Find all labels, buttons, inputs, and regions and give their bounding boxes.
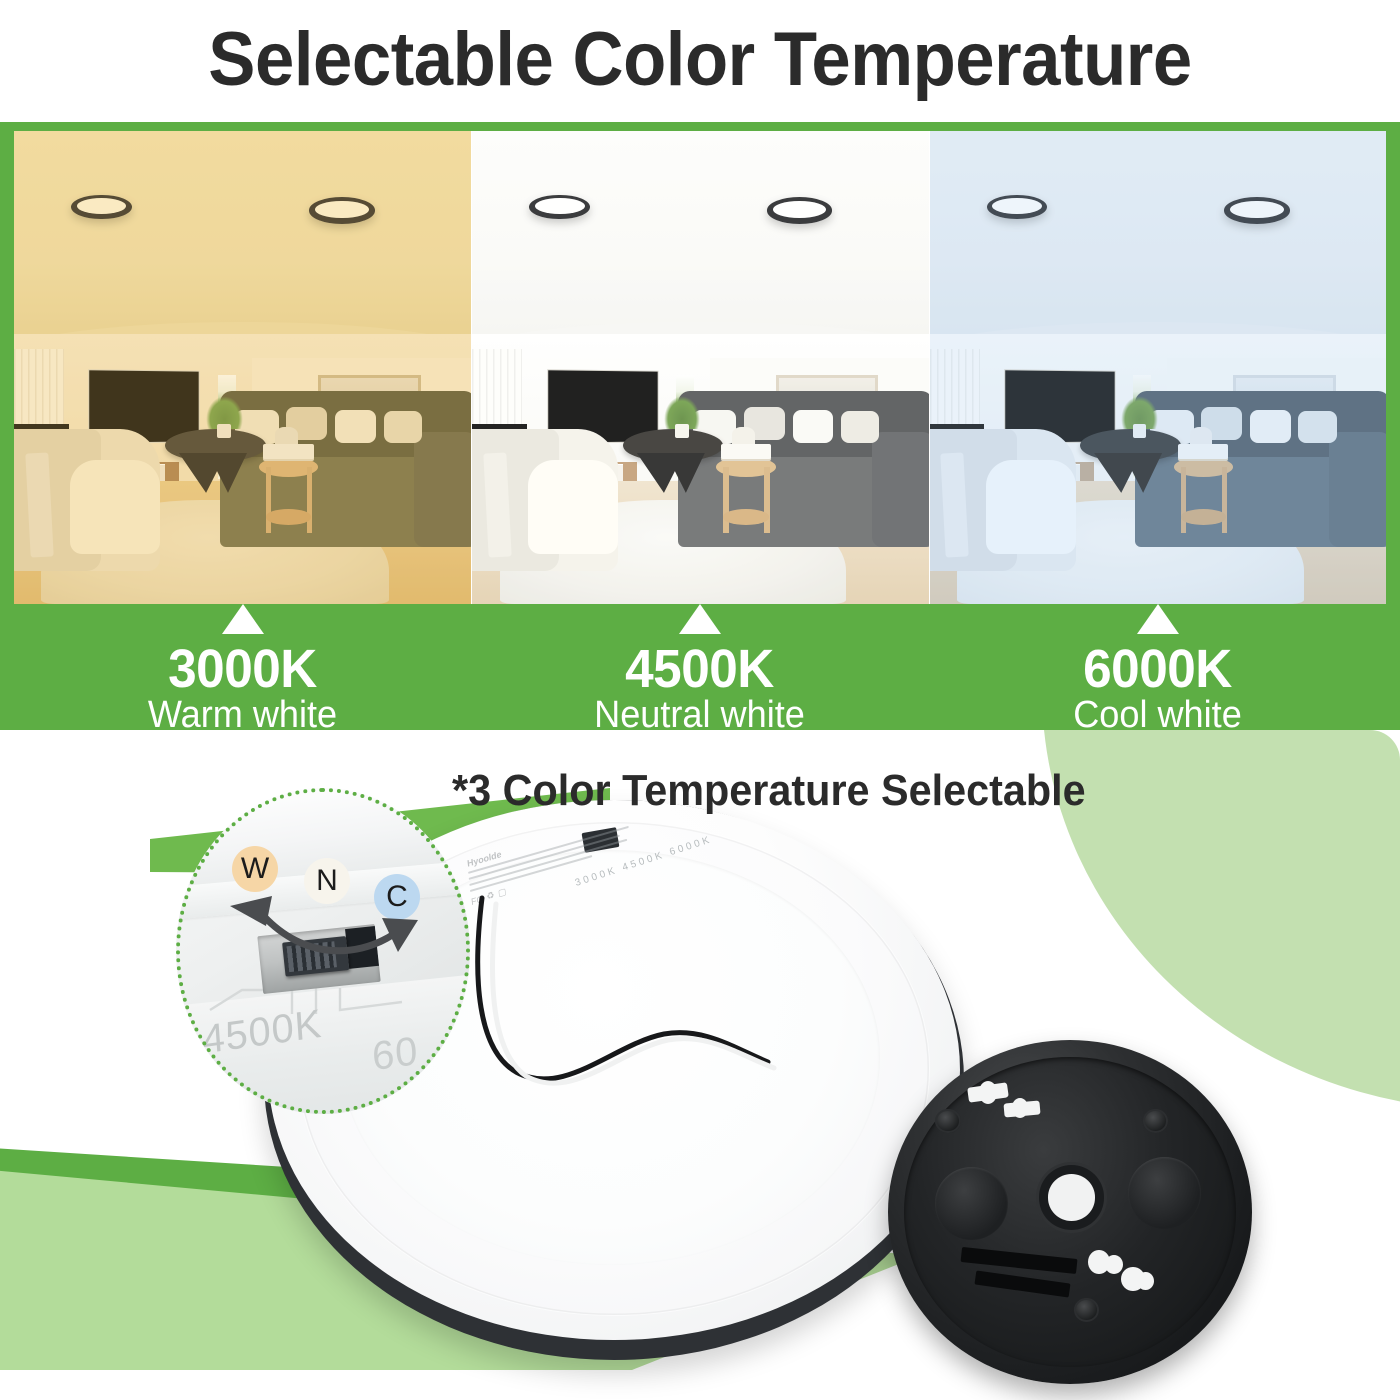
badge-warm: W (232, 846, 278, 892)
mounting-plate (888, 1040, 1252, 1384)
kelvin-value-3000k: 3000K (25, 640, 459, 698)
knockout-left (935, 1167, 1008, 1239)
ceiling-light-cool-right (1224, 197, 1290, 223)
keyhole-slot-f (1105, 1255, 1123, 1274)
ct-column-6000k: 6000K Cool white (929, 604, 1386, 730)
ct-column-3000k: 3000K Warm white (14, 604, 471, 730)
switch-zoom-callout: 4500K 60 W N C (176, 788, 470, 1114)
kelvin-value-6000k: 6000K (940, 640, 1374, 698)
keyhole-slot-b (979, 1081, 997, 1104)
screw-boss-top-right (1143, 1109, 1168, 1133)
room-scene-neutral (471, 131, 928, 604)
plate-center-hole (1048, 1174, 1095, 1220)
screw-boss-top-left (935, 1109, 960, 1133)
ceiling-light-warm-right (309, 197, 375, 223)
knockout-right (1128, 1157, 1201, 1229)
page-title: Selectable Color Temperature (49, 4, 1351, 114)
color-temperature-banner: 3000K Warm white 4500K Neutral white 600… (0, 122, 1400, 730)
ct-column-4500k: 4500K Neutral white (471, 604, 928, 730)
kelvin-value-4500k: 4500K (482, 640, 916, 698)
keyhole-slot-d (1012, 1098, 1029, 1117)
double-headed-arrow-icon (226, 894, 422, 966)
scale-label-60: 60 (371, 1029, 420, 1080)
pointer-triangle-6000k (1137, 604, 1179, 634)
pointer-triangle-4500k (679, 604, 721, 634)
room-scene-cool (929, 131, 1386, 604)
ceiling-light-neutral-right (767, 197, 833, 223)
room-scene-warm (14, 131, 471, 604)
room-comparison-strip (14, 131, 1386, 604)
pointer-triangle-3000k (222, 604, 264, 634)
keyhole-slot-h (1137, 1272, 1154, 1290)
screw-boss-bottom (1074, 1298, 1099, 1322)
feature-subtitle: *3 Color Temperature Selectable (452, 766, 1195, 816)
